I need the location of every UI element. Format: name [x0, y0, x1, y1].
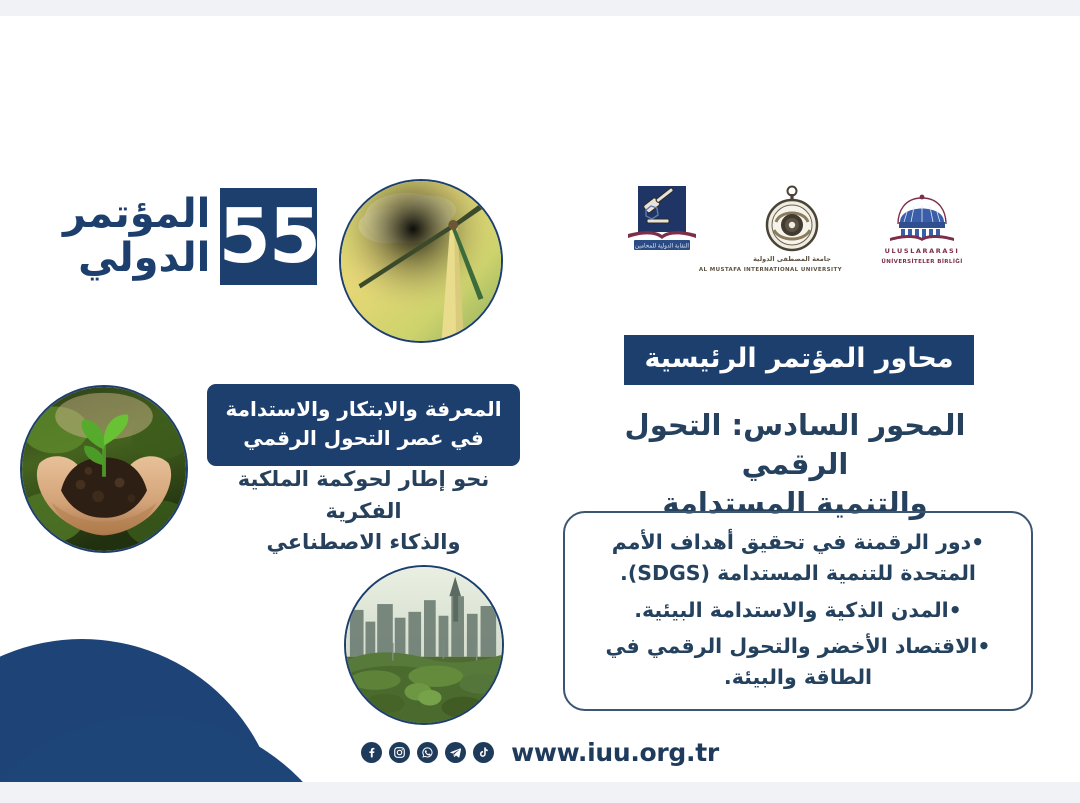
- theme-point: •الاقتصاد الأخضر والتحول الرقمي في الطاق…: [585, 631, 1011, 693]
- green-city-photo: [344, 565, 504, 725]
- website-url[interactable]: www.iuu.org.tr: [511, 738, 719, 767]
- dome-emblem-icon: [884, 182, 960, 244]
- partner-2-caption-line1: جامعة المصطفى الدولية: [742, 255, 842, 264]
- whatsapp-icon[interactable]: [417, 742, 438, 763]
- theme-points-box: •دور الرقمنة في تحقيق أهداف الأمم المتحد…: [563, 511, 1033, 711]
- al-mustafa-international-university-logo: جامعة المصطفى الدولية AL MUSTAFA INTERNA…: [742, 182, 842, 274]
- conference-logo-line1: المؤتمر: [63, 193, 210, 236]
- footer-bar: www.iuu.org.tr: [0, 738, 1080, 767]
- partner-1-caption-line1: ULUSLARARASI: [872, 247, 972, 256]
- conference-logo: 55 المؤتمر الدولي: [63, 188, 317, 285]
- main-themes-banner: محاور المؤتمر الرئيسية: [624, 335, 974, 385]
- motto-line-2: في عصر التحول الرقمي: [223, 424, 504, 453]
- subtitle-line-1: نحو إطار لحوكمة الملكية الفكرية: [207, 464, 520, 527]
- telegram-icon[interactable]: [445, 742, 466, 763]
- partner-logos: ULUSLARARASI ÜNİVERSİTELER BİRLİĞİ جامعة: [612, 182, 972, 282]
- conference-number: 55: [220, 188, 317, 285]
- partner-3-emblem-text: النقابة الدولية للمحامين: [635, 243, 689, 249]
- conference-motto-box: المعرفة والابتكار والاستدامة في عصر التح…: [207, 384, 520, 466]
- conference-poster: 55 المؤتمر الدولي: [0, 0, 1080, 803]
- wind-turbine-photo: [339, 179, 503, 343]
- theme-point: •المدن الذكية والاستدامة البيئية.: [585, 595, 1011, 626]
- facebook-icon[interactable]: [361, 742, 382, 763]
- partner-1-caption-line2: ÜNİVERSİTELER BİRLİĞİ: [872, 259, 972, 266]
- international-union-of-jurists-logo: النقابة الدولية للمحامين: [612, 182, 712, 256]
- theme-point: •دور الرقمنة في تحقيق أهداف الأمم المتحد…: [585, 527, 1011, 589]
- gavel-emblem-icon: النقابة الدولية للمحامين: [624, 182, 700, 256]
- hands-seedling-photo: [20, 385, 188, 553]
- conference-subtitle: نحو إطار لحوكمة الملكية الفكرية والذكاء …: [207, 464, 520, 559]
- conference-logo-line2: الدولي: [63, 237, 210, 280]
- theme-title: المحور السادس: التحول الرقمي والتنمية ال…: [570, 406, 1020, 523]
- conference-logo-text: المؤتمر الدولي: [63, 193, 210, 279]
- poster-canvas: 55 المؤتمر الدولي: [0, 16, 1080, 782]
- subtitle-line-2: والذكاء الاصطناعي: [207, 527, 520, 559]
- motto-line-1: المعرفة والابتكار والاستدامة: [223, 395, 504, 424]
- partner-2-caption-line2: AL MUSTAFA INTERNATIONAL UNIVERSITY: [742, 267, 842, 274]
- instagram-icon[interactable]: [389, 742, 410, 763]
- tiktok-icon[interactable]: [473, 742, 494, 763]
- medallion-emblem-icon: [756, 182, 828, 252]
- uluslararasi-universiteler-birligi-logo: ULUSLARARASI ÜNİVERSİTELER BİRLİĞİ: [872, 182, 972, 266]
- theme-title-line-1: المحور السادس: التحول الرقمي: [570, 406, 1020, 484]
